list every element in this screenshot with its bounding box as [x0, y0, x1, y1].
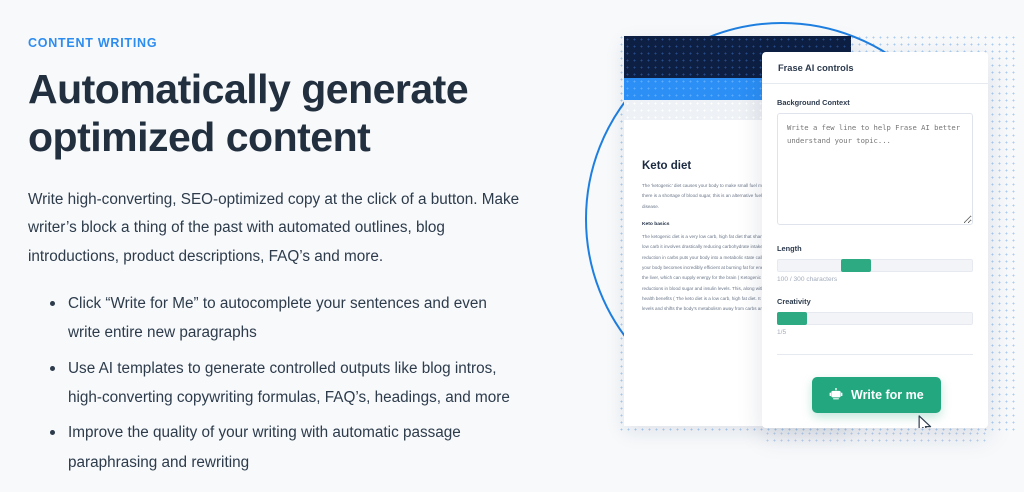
write-for-me-button[interactable]: Write for me — [812, 377, 941, 413]
feature-bullet-list: Click “Write for Me” to autocomplete you… — [48, 289, 548, 477]
list-item: Use AI templates to generate controlled … — [48, 354, 518, 413]
background-context-label: Background Context — [777, 98, 973, 107]
creativity-slider-track[interactable] — [777, 312, 973, 325]
bullet-text: Improve the quality of your writing with… — [68, 424, 461, 470]
creativity-label: Creativity — [777, 297, 973, 306]
list-item: Improve the quality of your writing with… — [48, 418, 518, 477]
length-label: Length — [777, 244, 973, 253]
panel-header: Frase AI controls — [762, 52, 988, 84]
length-caption: 100 / 300 characters — [777, 276, 973, 283]
robot-icon — [829, 388, 843, 402]
bullet-dot-icon — [50, 301, 55, 306]
creativity-slider-block: Creativity 1/5 — [777, 297, 973, 336]
creativity-caption: 1/5 — [777, 329, 973, 336]
length-slider-block: Length 100 / 300 characters — [777, 244, 973, 283]
write-for-me-label: Write for me — [851, 388, 924, 402]
bullet-dot-icon — [50, 430, 55, 435]
panel-body: Background Context Length 100 / 300 char… — [762, 84, 988, 355]
section-eyebrow: CONTENT WRITING — [28, 36, 548, 50]
bullet-text: Use AI templates to generate controlled … — [68, 360, 510, 406]
page-title: Automatically generate optimized content — [28, 66, 528, 161]
bullet-dot-icon — [50, 366, 55, 371]
lead-paragraph: Write high-converting, SEO-optimized cop… — [28, 186, 526, 271]
length-slider-track[interactable] — [777, 259, 973, 272]
product-screenshot-illustration: Keto diet The 'ketogenic' diet causes yo… — [556, 0, 1024, 492]
feature-text-column: CONTENT WRITING Automatically generate o… — [28, 36, 548, 483]
creativity-slider-thumb[interactable] — [777, 312, 807, 325]
background-context-input[interactable] — [777, 113, 973, 225]
length-slider-thumb[interactable] — [841, 259, 871, 272]
frase-ai-controls-panel: Frase AI controls Background Context Len… — [762, 52, 988, 428]
list-item: Click “Write for Me” to autocomplete you… — [48, 289, 518, 348]
panel-dot-shadow — [764, 430, 986, 444]
bullet-text: Click “Write for Me” to autocomplete you… — [68, 295, 487, 341]
panel-footer: Write for me — [762, 355, 988, 428]
panel-title: Frase AI controls — [778, 63, 854, 73]
mouse-pointer-icon — [918, 415, 933, 428]
page-root: CONTENT WRITING Automatically generate o… — [0, 0, 1024, 492]
